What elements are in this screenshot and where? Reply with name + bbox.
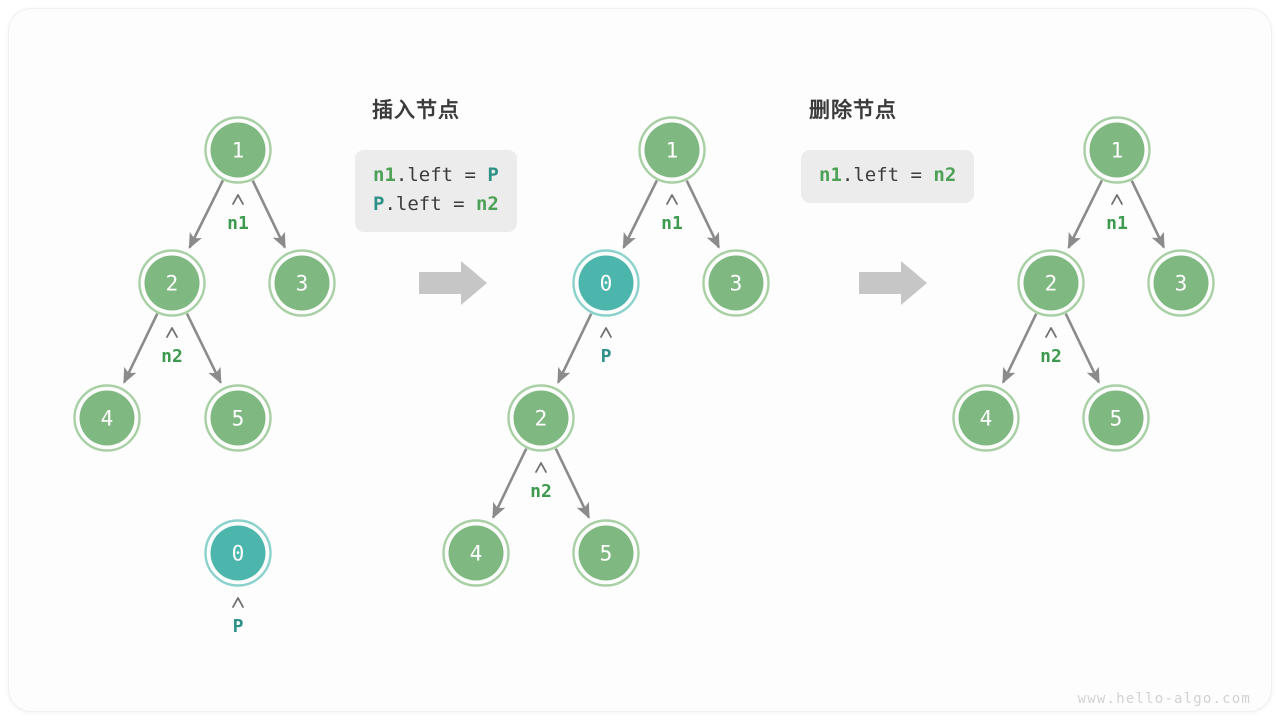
pointer-name: P	[601, 346, 612, 367]
tree-edge	[1066, 314, 1099, 383]
node-value: 2	[535, 407, 548, 431]
flow-arrows-layer	[419, 261, 927, 305]
tree-node[interactable]: 3	[270, 251, 335, 316]
code-token-plain: .left =	[396, 164, 488, 186]
code-token-var: n2	[933, 164, 956, 186]
tree-node[interactable]: 3	[704, 251, 769, 316]
tree-edge	[556, 449, 589, 518]
code-token-plain: .left =	[842, 164, 934, 186]
tree-node[interactable]: 2	[509, 386, 574, 451]
pointer-label: n2	[530, 463, 552, 502]
node-value: 5	[232, 407, 245, 431]
tree-edge	[253, 181, 285, 248]
pointer-name: n2	[1040, 346, 1062, 367]
tree-node[interactable]: 4	[954, 386, 1019, 451]
caret-up-icon	[1112, 195, 1122, 204]
node-value: 3	[296, 272, 309, 296]
tree-edge	[124, 314, 157, 383]
caret-up-icon	[233, 598, 243, 607]
tree-node[interactable]: 5	[206, 386, 271, 451]
pointer-label: n1	[1106, 195, 1128, 234]
node-value: 1	[232, 139, 245, 163]
node-value: 3	[1175, 272, 1188, 296]
pointer-label: n1	[661, 195, 683, 234]
pointer-label: n2	[1040, 328, 1062, 367]
tree-edge	[493, 449, 526, 518]
pointer-name: n2	[161, 346, 183, 367]
tree-edge	[1003, 314, 1036, 383]
tree-edge	[1132, 181, 1164, 248]
pointer-label: n1	[227, 195, 249, 234]
diagram-card: 12345010324512345 n1n2Pn1Pn2n1n2 插入节点 删除…	[9, 9, 1271, 711]
tree-edge	[558, 314, 591, 383]
tree-node[interactable]: 1	[206, 118, 271, 183]
tree-edge	[1069, 180, 1102, 247]
code-line: n1.left = n2	[819, 161, 956, 190]
code-token-p: P	[487, 164, 498, 186]
pointer-name: n1	[227, 213, 249, 234]
node-value: 2	[1045, 272, 1058, 296]
caret-up-icon	[667, 195, 677, 204]
node-value: 5	[1110, 407, 1123, 431]
diagram-stage: 12345010324512345 n1n2Pn1Pn2n1n2 插入节点 删除…	[9, 9, 1271, 711]
tree-edge	[624, 180, 657, 247]
caret-up-icon	[601, 328, 611, 337]
node-value: 3	[730, 272, 743, 296]
tree-node[interactable]: 0	[206, 521, 271, 586]
tree-edge	[687, 181, 719, 248]
code-token-var: n1	[373, 164, 396, 186]
node-value: 4	[980, 407, 993, 431]
watermark: www.hello-algo.com	[1078, 691, 1251, 707]
node-value: 5	[600, 542, 613, 566]
code-token-plain: .left =	[384, 193, 476, 215]
node-value: 2	[166, 272, 179, 296]
node-value: 4	[470, 542, 483, 566]
pointer-label: P	[601, 328, 612, 367]
tree-node[interactable]: 4	[444, 521, 509, 586]
tree-node[interactable]: 2	[1019, 251, 1084, 316]
caret-up-icon	[233, 195, 243, 204]
code-line: n1.left = P	[373, 161, 499, 190]
flow-arrow-1	[419, 261, 487, 305]
pointer-label: P	[233, 598, 244, 637]
pointer-name: n2	[530, 481, 552, 502]
flow-arrow-2	[859, 261, 927, 305]
tree-edges-layer	[124, 180, 1164, 517]
code-box-delete: n1.left = n2	[801, 150, 974, 203]
tree-edge	[190, 180, 223, 247]
code-token-var: n1	[819, 164, 842, 186]
node-value: 0	[232, 542, 245, 566]
tree-node[interactable]: 1	[1085, 118, 1150, 183]
tree-node[interactable]: 5	[1084, 386, 1149, 451]
caret-up-icon	[1046, 328, 1056, 337]
node-value: 1	[1111, 139, 1124, 163]
tree-node[interactable]: 1	[640, 118, 705, 183]
node-value: 0	[600, 272, 613, 296]
code-line: P.left = n2	[373, 190, 499, 219]
pointer-label: n2	[161, 328, 183, 367]
pointer-name: n1	[661, 213, 683, 234]
pointer-name: P	[233, 616, 244, 637]
caret-up-icon	[536, 463, 546, 472]
node-value: 1	[666, 139, 679, 163]
code-box-insert: n1.left = PP.left = n2	[355, 150, 517, 232]
tree-node[interactable]: 2	[140, 251, 205, 316]
node-value: 4	[101, 407, 114, 431]
pointer-name: n1	[1106, 213, 1128, 234]
code-token-p: P	[373, 193, 384, 215]
binary-tree-diagram-svg: 12345010324512345 n1n2Pn1Pn2n1n2	[9, 9, 1271, 711]
tree-node[interactable]: 5	[574, 521, 639, 586]
panel-title-insert: 插入节点	[372, 94, 460, 124]
code-token-var: n2	[476, 193, 499, 215]
tree-node[interactable]: 3	[1149, 251, 1214, 316]
tree-node[interactable]: 4	[75, 386, 140, 451]
tree-node[interactable]: 0	[574, 251, 639, 316]
caret-up-icon	[167, 328, 177, 337]
tree-edge	[187, 314, 221, 383]
panel-title-delete: 删除节点	[809, 94, 897, 124]
